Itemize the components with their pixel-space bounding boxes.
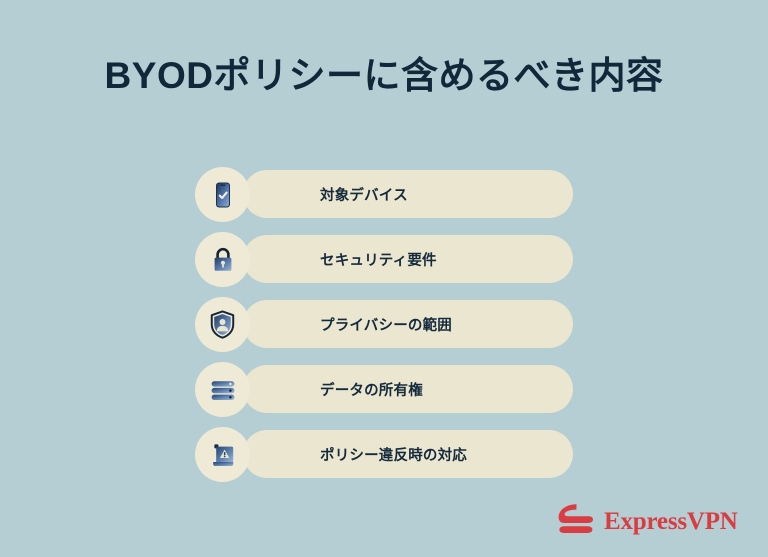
icon-badge xyxy=(195,297,250,352)
list-item-label: ポリシー違反時の対応 xyxy=(320,444,467,465)
item-pill[interactable]: 対象デバイス xyxy=(243,170,573,218)
expressvpn-wordmark: ExpressVPN xyxy=(604,509,738,534)
padlock-icon xyxy=(208,245,238,275)
icon-badge xyxy=(195,362,250,417)
item-pill[interactable]: ポリシー違反時の対応 xyxy=(243,430,573,478)
expressvpn-logo: ExpressVPN xyxy=(556,502,738,541)
item-pill[interactable]: データの所有権 xyxy=(243,365,573,413)
icon-badge xyxy=(195,232,250,287)
policy-items-list: 対象デバイス xyxy=(195,167,575,492)
slide-canvas: BYODポリシーに含めるべき内容 対象デバイス xyxy=(0,0,768,557)
list-item[interactable]: プライバシーの範囲 xyxy=(195,297,575,352)
list-item[interactable]: セキュリティ要件 xyxy=(195,232,575,287)
list-item-label: プライバシーの範囲 xyxy=(320,314,452,335)
scroll-warning-icon xyxy=(208,440,238,470)
icon-badge xyxy=(195,167,250,222)
icon-badge xyxy=(195,427,250,482)
mobile-phone-check-icon xyxy=(208,180,238,210)
server-stack-icon xyxy=(208,375,238,405)
item-pill[interactable]: プライバシーの範囲 xyxy=(243,300,573,348)
shield-person-icon xyxy=(207,309,238,340)
list-item-label: セキュリティ要件 xyxy=(320,249,437,270)
item-pill[interactable]: セキュリティ要件 xyxy=(243,235,573,283)
list-item[interactable]: データの所有権 xyxy=(195,362,575,417)
list-item[interactable]: 対象デバイス xyxy=(195,167,575,222)
list-item[interactable]: ポリシー違反時の対応 xyxy=(195,427,575,482)
list-item-label: 対象デバイス xyxy=(320,184,408,205)
page-title: BYODポリシーに含めるべき内容 xyxy=(0,56,768,97)
expressvpn-e-mark-icon xyxy=(556,502,596,541)
list-item-label: データの所有権 xyxy=(320,379,423,400)
